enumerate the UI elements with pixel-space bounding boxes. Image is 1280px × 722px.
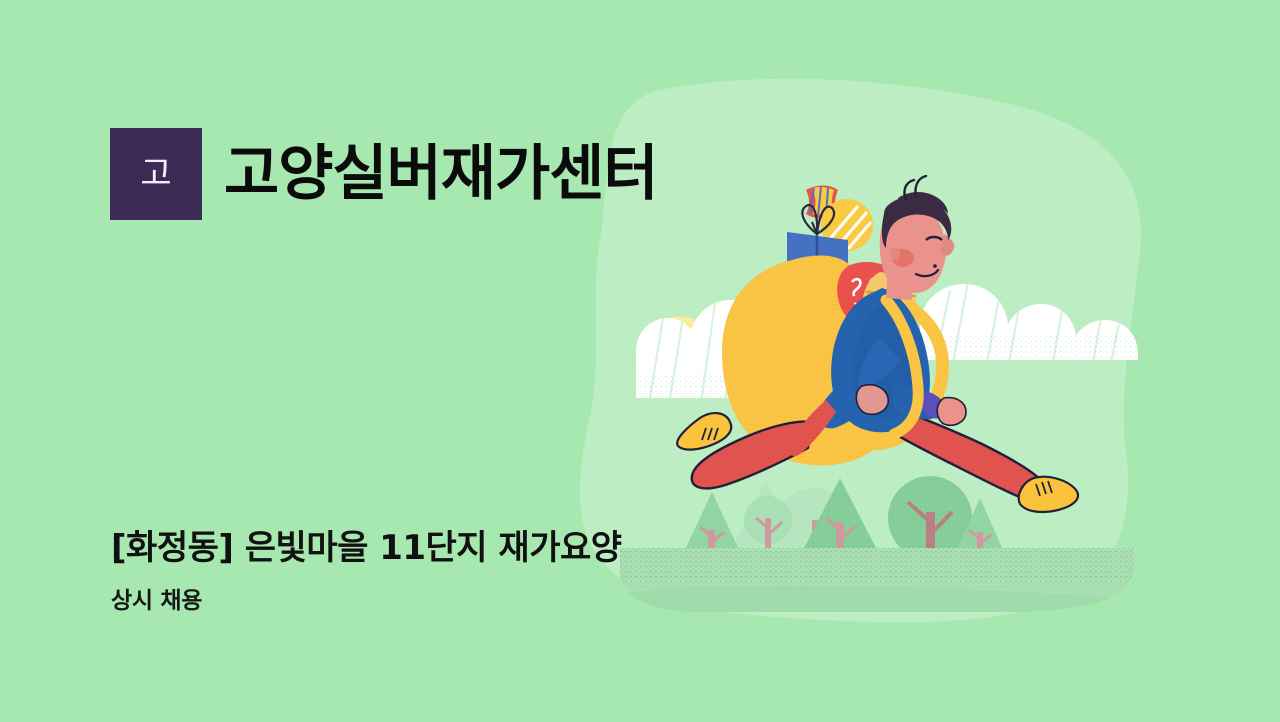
job-posting-title: [화정동] 은빛마을 11단지 재가요양 (111, 520, 622, 569)
job-posting-card: 고 고양실버재가센터 [화정동] 은빛마을 11단지 재가요양 상시 채용 (0, 0, 1280, 722)
job-posting-status: 상시 채용 (111, 581, 202, 615)
company-name: 고양실버재가센터 (224, 143, 658, 206)
header-row: 고 고양실버재가센터 (110, 128, 658, 220)
company-initial: 고 (140, 157, 171, 191)
company-initial-badge: 고 (110, 128, 202, 220)
